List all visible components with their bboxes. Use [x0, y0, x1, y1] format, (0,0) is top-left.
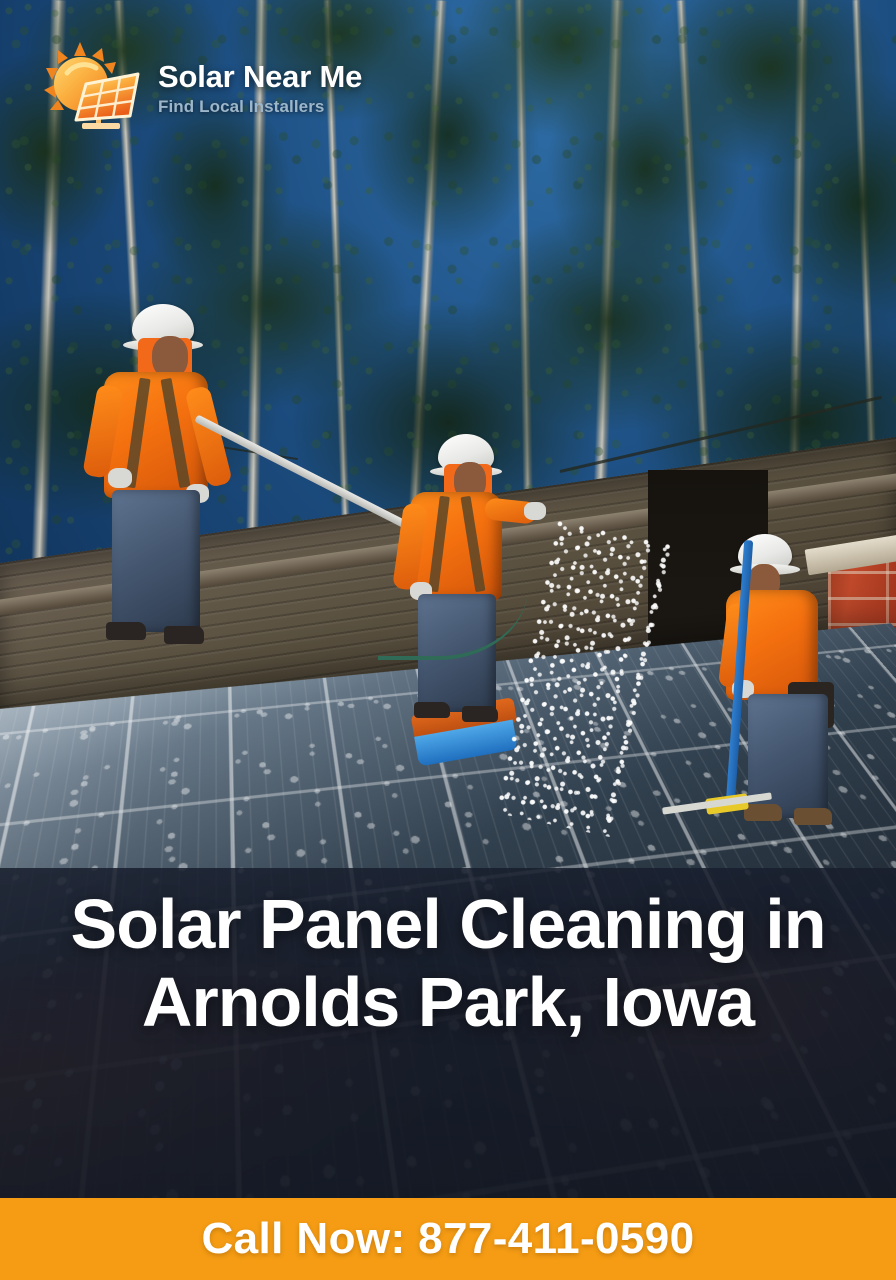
- work-boot: [462, 706, 498, 722]
- poster: Solar Near Me Find Local Installers Sola…: [0, 0, 896, 1280]
- work-boot: [414, 702, 450, 718]
- call-now-bar[interactable]: Call Now: 877-411-0590: [0, 1198, 896, 1280]
- brand-name: Solar Near Me: [158, 61, 362, 94]
- work-glove: [524, 502, 546, 520]
- work-boot: [106, 622, 146, 640]
- worker-legs: [112, 490, 200, 632]
- work-boot: [164, 626, 204, 644]
- brand-tagline: Find Local Installers: [158, 97, 362, 117]
- brand-logo[interactable]: Solar Near Me Find Local Installers: [40, 40, 362, 136]
- worker-left: [60, 300, 250, 660]
- work-boot: [794, 808, 832, 825]
- page-title: Solar Panel Cleaning in Arnolds Park, Io…: [0, 885, 896, 1042]
- work-boot: [744, 804, 782, 821]
- work-glove: [108, 468, 132, 488]
- call-now-label[interactable]: Call Now: 877-411-0590: [201, 1214, 694, 1264]
- brand-logo-text: Solar Near Me Find Local Installers: [158, 59, 362, 117]
- sun-solar-panel-icon: [40, 40, 144, 136]
